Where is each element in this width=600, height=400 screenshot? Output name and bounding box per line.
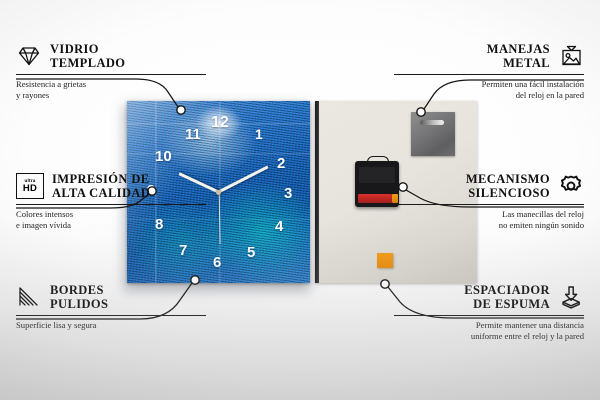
callout-description: Colores intensos e imagen vívida [16, 209, 206, 232]
callout-title-line1: MANEJAS [487, 42, 550, 56]
movement-hook [367, 156, 389, 164]
callout-title-line2: PULIDOS [50, 297, 108, 311]
callout-rule [394, 74, 584, 75]
callout-title-line2: DE ESPUMA [473, 297, 550, 311]
polished-edges-icon [16, 284, 42, 310]
clock-numeral-4: 4 [275, 219, 283, 234]
clock-numeral-7: 7 [179, 243, 187, 258]
callout-title-line1: IMPRESIÓN DE [52, 172, 150, 186]
infographic-canvas: 12 1 2 3 4 5 6 7 8 9 10 11 [0, 0, 600, 400]
battery [358, 194, 392, 203]
callout-title: MECANISMO SILENCIOSO [466, 172, 550, 201]
callout-vidrio-templado[interactable]: VIDRIO TEMPLADO Resistencia a grietas y … [16, 42, 206, 102]
callout-header: MECANISMO SILENCIOSO [394, 172, 584, 201]
callout-title-line2: SILENCIOSO [468, 186, 550, 200]
callout-desc-line1: Resistencia a grietas [16, 79, 86, 89]
callout-bordes-pulidos[interactable]: BORDES PULIDOS Superficie lisa y segura [16, 283, 206, 331]
callout-title: MANEJAS METAL [487, 42, 550, 71]
callout-espaciador-espuma[interactable]: ESPACIADOR DE ESPUMA Permite mantener un… [394, 283, 584, 343]
callout-title-line1: VIDRIO [50, 42, 99, 56]
callout-desc-line2: no emiten ningún sonido [499, 220, 584, 230]
clock-numeral-10: 10 [155, 149, 172, 164]
callout-header: ultra HD IMPRESIÓN DE ALTA CALIDAD [16, 172, 206, 201]
callout-rule [16, 74, 206, 75]
panel-dark-edge [315, 101, 319, 283]
foam-spacer [377, 253, 393, 268]
callout-rule [394, 204, 584, 205]
callout-description: Permiten una fácil instalación del reloj… [394, 79, 584, 102]
callout-header: MANEJAS METAL [394, 42, 584, 71]
callout-title-line2: ALTA CALIDAD [52, 186, 150, 200]
clock-numeral-11: 11 [185, 127, 201, 142]
callout-header: VIDRIO TEMPLADO [16, 42, 206, 71]
movement-panel [359, 167, 395, 183]
callout-desc-line2: uniforme entre el reloj y la pared [471, 331, 584, 341]
callout-manejas-metal[interactable]: MANEJAS METAL Permiten una fácil instala… [394, 42, 584, 102]
callout-desc-line1: Las manecillas del reloj [502, 209, 584, 219]
clock-numeral-1: 1 [255, 127, 263, 141]
gear-icon [558, 173, 584, 199]
clock-numeral-3: 3 [284, 186, 292, 201]
callout-header: ESPACIADOR DE ESPUMA [394, 283, 584, 312]
callout-title-line1: ESPACIADOR [464, 283, 550, 297]
metal-hanger-plate [411, 112, 455, 156]
callout-desc-line2: y rayones [16, 90, 49, 100]
hanging-frame-icon [558, 43, 584, 69]
clock-numeral-2: 2 [277, 156, 285, 171]
callout-desc-line1: Superficie lisa y segura [16, 320, 96, 330]
callout-rule [394, 315, 584, 316]
callout-mecanismo-silencioso[interactable]: MECANISMO SILENCIOSO Las manecillas del … [394, 172, 584, 232]
callout-description: Las manecillas del reloj no emiten ningú… [394, 209, 584, 232]
callout-title: BORDES PULIDOS [50, 283, 108, 312]
clock-numeral-5: 5 [247, 245, 255, 260]
callout-description: Permite mantener una distancia uniforme … [394, 320, 584, 343]
callout-title-line1: MECANISMO [466, 172, 550, 186]
ultra-hd-icon: ultra HD [16, 173, 44, 199]
clock-center-cap [216, 190, 221, 195]
callout-description: Resistencia a grietas y rayones [16, 79, 206, 102]
callout-desc-line1: Permite mantener una distancia [476, 320, 584, 330]
quartz-movement-box [355, 161, 399, 207]
callout-desc-line1: Permiten una fácil instalación [482, 79, 584, 89]
arrow-down-pad-icon [558, 284, 584, 310]
callout-title-line1: BORDES [50, 283, 104, 297]
ultra-hd-bottom-label: HD [23, 184, 37, 194]
callout-desc-line1: Colores intensos [16, 209, 73, 219]
clock-numeral-6: 6 [213, 255, 221, 270]
diamond-icon [16, 43, 42, 69]
callout-title-line2: METAL [503, 56, 550, 70]
callout-header: BORDES PULIDOS [16, 283, 206, 312]
callout-rule [16, 204, 206, 205]
hanger-keyhole-slot [420, 120, 444, 125]
callout-title: IMPRESIÓN DE ALTA CALIDAD [52, 172, 150, 201]
callout-rule [16, 315, 206, 316]
clock-numeral-12: 12 [211, 115, 229, 131]
callout-impresion-alta-calidad[interactable]: ultra HD IMPRESIÓN DE ALTA CALIDAD Color… [16, 172, 206, 232]
callout-title-line2: TEMPLADO [50, 56, 125, 70]
callout-description: Superficie lisa y segura [16, 320, 206, 331]
callout-title: ESPACIADOR DE ESPUMA [464, 283, 550, 312]
callout-desc-line2: e imagen vívida [16, 220, 71, 230]
callout-desc-line2: del reloj en la pared [516, 90, 584, 100]
callout-title: VIDRIO TEMPLADO [50, 42, 125, 71]
